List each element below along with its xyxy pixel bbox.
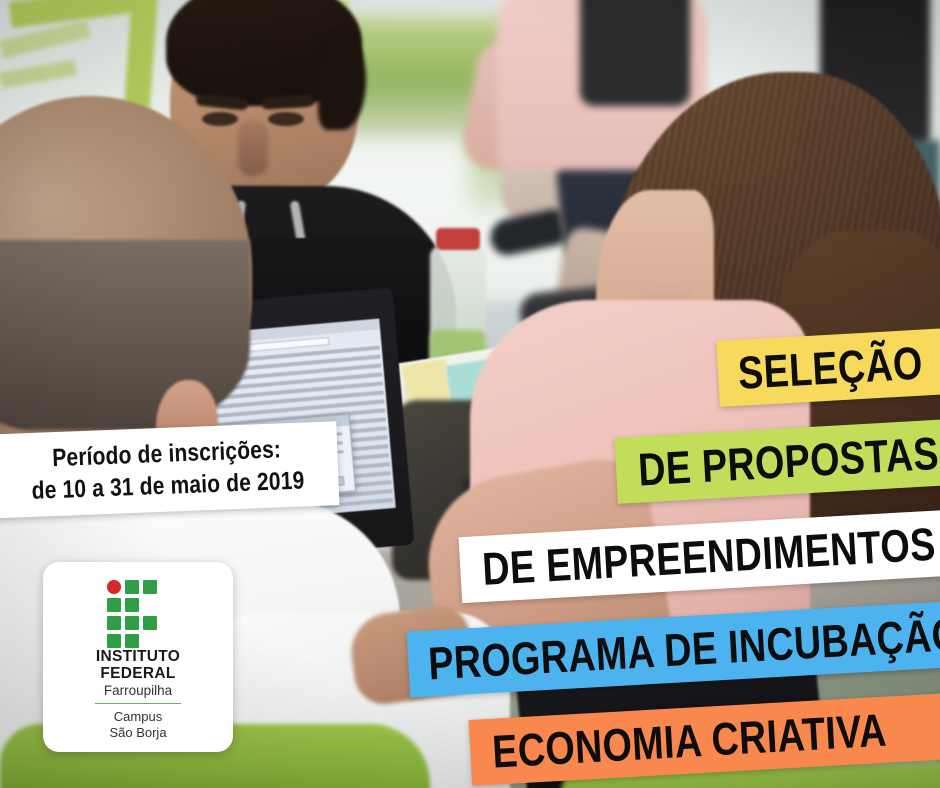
logo-unit: Farroupilha bbox=[95, 684, 181, 698]
headline-text-selecao: SELEÇÃO bbox=[737, 340, 924, 396]
logo-wordmark: INSTITUTO FEDERAL Farroupilha Campus São… bbox=[95, 649, 181, 742]
logo-divider bbox=[95, 703, 181, 705]
logo-campus-line1: Campus bbox=[95, 709, 181, 725]
headline-text-economia: ECONOMIA CRIATIVA bbox=[491, 707, 888, 775]
logo-federal: FEDERAL bbox=[95, 666, 181, 682]
instituto-federal-mark-icon bbox=[107, 580, 169, 642]
logo-instituto: INSTITUTO bbox=[95, 649, 181, 665]
institution-logo-card: INSTITUTO FEDERAL Farroupilha Campus São… bbox=[43, 562, 233, 752]
registration-period-line2: de 10 a 31 de maio de 2019 bbox=[31, 468, 305, 503]
registration-period-banner: Período de inscrições: de 10 a 31 de mai… bbox=[0, 421, 339, 519]
logo-campus-line2: São Borja bbox=[95, 725, 181, 741]
registration-period-line1: Período de inscrições: bbox=[52, 437, 282, 471]
poster-root: Período de inscrições: de 10 a 31 de mai… bbox=[0, 0, 940, 788]
headline-text-propostas: DE PROPOSTAS bbox=[637, 430, 940, 493]
headline-strip-selecao: SELEÇÃO bbox=[716, 327, 940, 407]
